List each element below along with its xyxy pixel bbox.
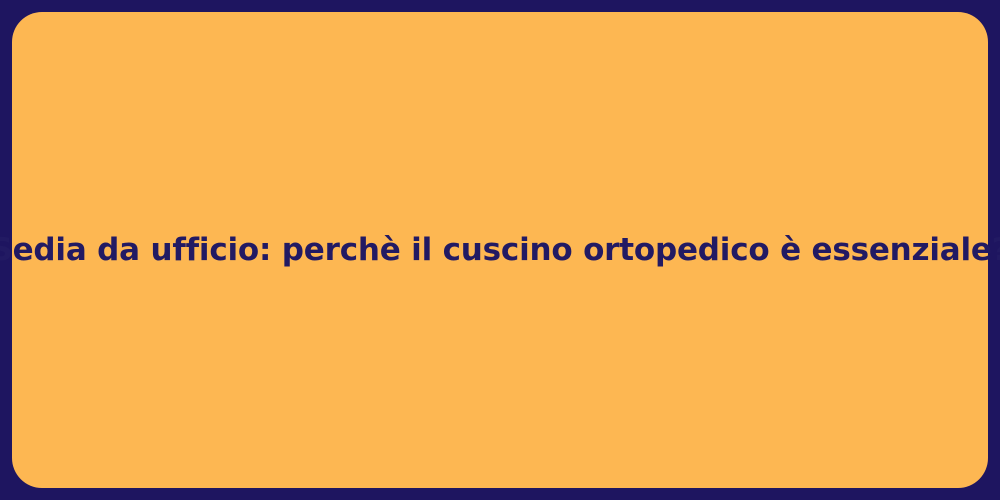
banner-panel: Sedia da ufficio: perchè il cuscino orto… (12, 12, 988, 488)
banner-frame: Sedia da ufficio: perchè il cuscino orto… (0, 0, 1000, 500)
banner-title: Sedia da ufficio: perchè il cuscino orto… (0, 231, 1000, 270)
